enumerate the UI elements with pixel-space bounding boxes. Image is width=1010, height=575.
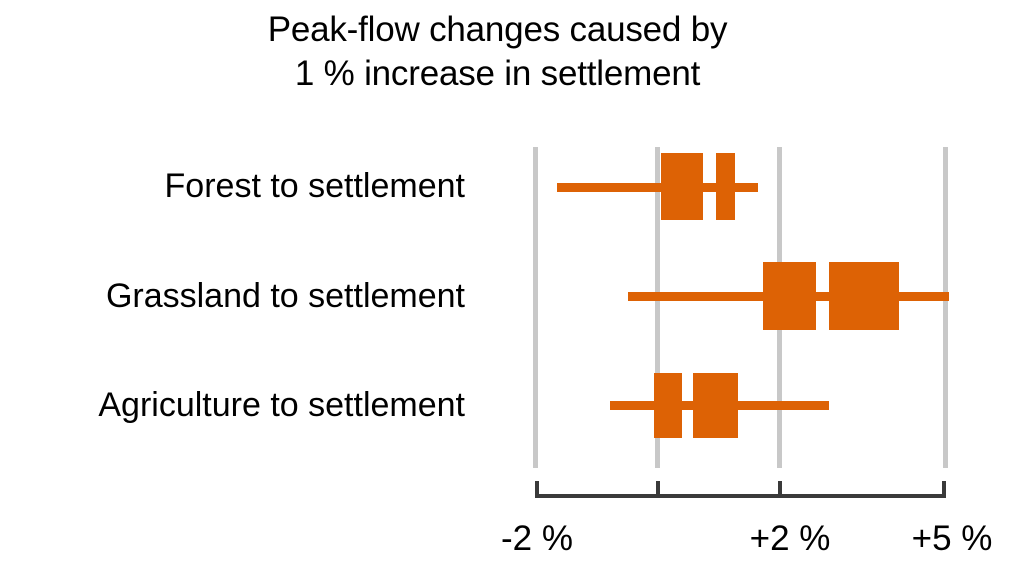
category-label-agriculture: Agriculture to settlement xyxy=(0,388,465,422)
box-agriculture-quartile xyxy=(654,373,682,438)
x-axis-label-pos2: +2 % xyxy=(720,521,860,556)
box-grassland-median xyxy=(829,262,899,330)
x-axis-tick-pos5 xyxy=(942,481,946,496)
gridline-pos5 xyxy=(943,147,948,468)
x-axis-label-pos5: +5 % xyxy=(882,521,1010,556)
box-grassland-quartile xyxy=(763,262,816,330)
box-forest-quartile xyxy=(661,153,703,220)
x-axis-tick-neg2 xyxy=(535,481,539,496)
gridline-neg2 xyxy=(533,147,538,468)
x-axis-line xyxy=(535,494,946,498)
x-axis-tick-pos2 xyxy=(778,481,782,496)
category-label-grassland: Grassland to settlement xyxy=(0,279,465,313)
x-axis-label-neg2: -2 % xyxy=(467,521,607,556)
box-forest-median xyxy=(716,153,735,220)
category-label-forest: Forest to settlement xyxy=(0,169,465,203)
chart-root: Peak-flow changes caused by 1 % increase… xyxy=(0,0,1010,575)
box-agriculture-median xyxy=(693,373,738,438)
x-axis-tick-zero xyxy=(656,481,660,496)
plot-area: Forest to settlement Grassland to settle… xyxy=(0,0,1010,575)
